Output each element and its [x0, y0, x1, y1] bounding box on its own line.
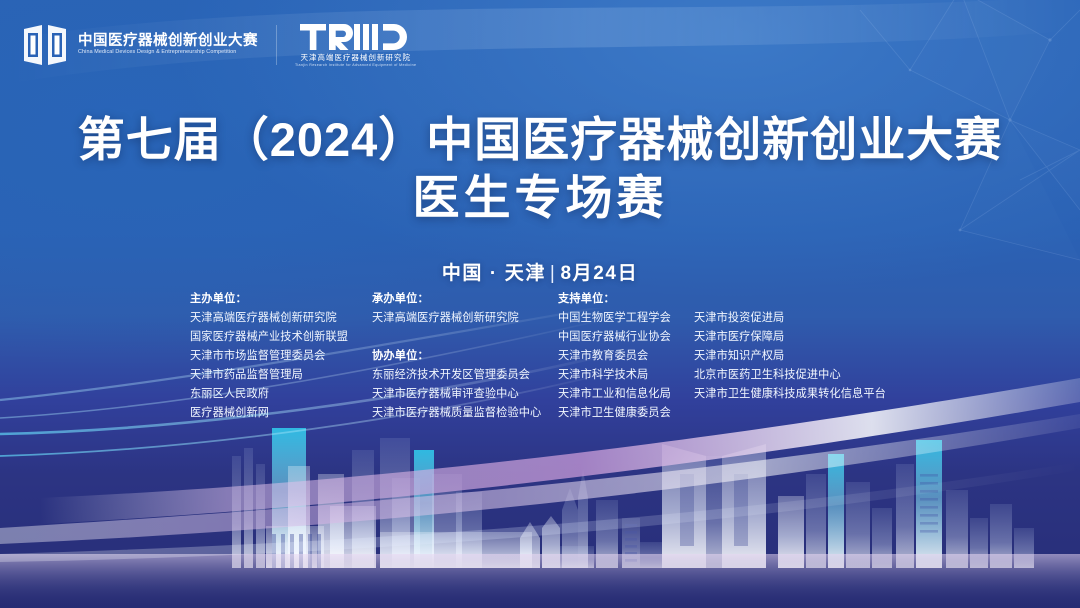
org-item: 天津市教育委员会	[558, 347, 694, 366]
column-heading: 支持单位：	[558, 290, 694, 309]
column-heading: 主办单位：	[190, 290, 372, 309]
column-spacer	[372, 328, 558, 347]
organizer-column-host: 主办单位： 天津高端医疗器械创新研究院 国家医疗器械产业技术创新联盟 天津市市场…	[190, 290, 372, 423]
event-date: 8月24日	[560, 263, 638, 284]
org-item: 东丽经济技术开发区管理委员会	[372, 366, 558, 385]
org-item: 天津市市场监督管理委员会	[190, 347, 372, 366]
org-item: 天津市卫生健康科技成果转化信息平台	[694, 385, 924, 404]
org-item: 中国生物医学工程学会	[558, 309, 694, 328]
org-item: 天津市医疗器械质量监督检验中心	[372, 404, 558, 423]
institute-logo-cn: 天津高端医疗器械创新研究院	[300, 54, 410, 62]
organizer-column-organizer: 承办单位： 天津高端医疗器械创新研究院 协办单位： 东丽经济技术开发区管理委员会…	[372, 290, 558, 423]
org-item: 天津市知识产权局	[694, 347, 924, 366]
org-item: 东丽区人民政府	[190, 385, 372, 404]
event-subtitle: 中国 · 天津|8月24日	[0, 258, 1080, 285]
subtitle-separator: |	[546, 263, 561, 285]
org-item: 天津市卫生健康委员会	[558, 404, 694, 423]
org-item: 天津市药品监督管理局	[190, 366, 372, 385]
org-item: 国家医疗器械产业技术创新联盟	[190, 328, 372, 347]
competition-logo-en: China Medical Devices Design & Entrepren…	[78, 50, 258, 56]
triid-wordmark-icon	[300, 22, 412, 52]
org-item: 天津市工业和信息化局	[558, 385, 694, 404]
organizer-columns: 主办单位： 天津高端医疗器械创新研究院 国家医疗器械产业技术创新联盟 天津市市场…	[190, 290, 930, 423]
organizer-column-support-b: 天津市投资促进局 天津市医疗保障局 天津市知识产权局 北京市医药卫生科技促进中心…	[694, 290, 924, 404]
title-line-2: 医生专场赛	[0, 169, 1080, 226]
column-heading: 协办单位：	[372, 347, 558, 366]
event-poster: 中国医疗器械创新创业大赛 China Medical Devices Desig…	[0, 0, 1080, 608]
org-item: 天津高端医疗器械创新研究院	[372, 309, 558, 328]
header-logos: 中国医疗器械创新创业大赛 China Medical Devices Desig…	[22, 22, 416, 67]
org-item: 天津市科学技术局	[558, 366, 694, 385]
org-item: 医疗器械创新网	[190, 404, 372, 423]
org-item: 中国医疗器械行业协会	[558, 328, 694, 347]
org-item: 北京市医药卫生科技促进中心	[694, 366, 924, 385]
org-item: 天津市医疗保障局	[694, 328, 924, 347]
institute-logo-en: Tianjin Research Institute for Advanced …	[295, 64, 416, 68]
column-heading: 承办单位：	[372, 290, 558, 309]
logo-divider	[276, 25, 277, 65]
poster-title: 第七届（2024）中国医疗器械创新创业大赛 医生专场赛	[0, 112, 1080, 227]
competition-logo: 中国医疗器械创新创业大赛 China Medical Devices Desig…	[22, 23, 258, 67]
institute-logo: 天津高端医疗器械创新研究院 Tianjin Research Institute…	[295, 22, 416, 67]
open-door-logo-icon	[22, 23, 68, 67]
org-item: 天津市投资促进局	[694, 309, 924, 328]
competition-logo-cn: 中国医疗器械创新创业大赛	[78, 34, 258, 49]
event-location: 中国 · 天津	[442, 263, 546, 284]
organizer-column-support-a: 支持单位： 中国生物医学工程学会 中国医疗器械行业协会 天津市教育委员会 天津市…	[558, 290, 694, 423]
org-item: 天津市医疗器械审评查验中心	[372, 385, 558, 404]
org-item: 天津高端医疗器械创新研究院	[190, 309, 372, 328]
title-line-1: 第七届（2024）中国医疗器械创新创业大赛	[0, 112, 1080, 167]
